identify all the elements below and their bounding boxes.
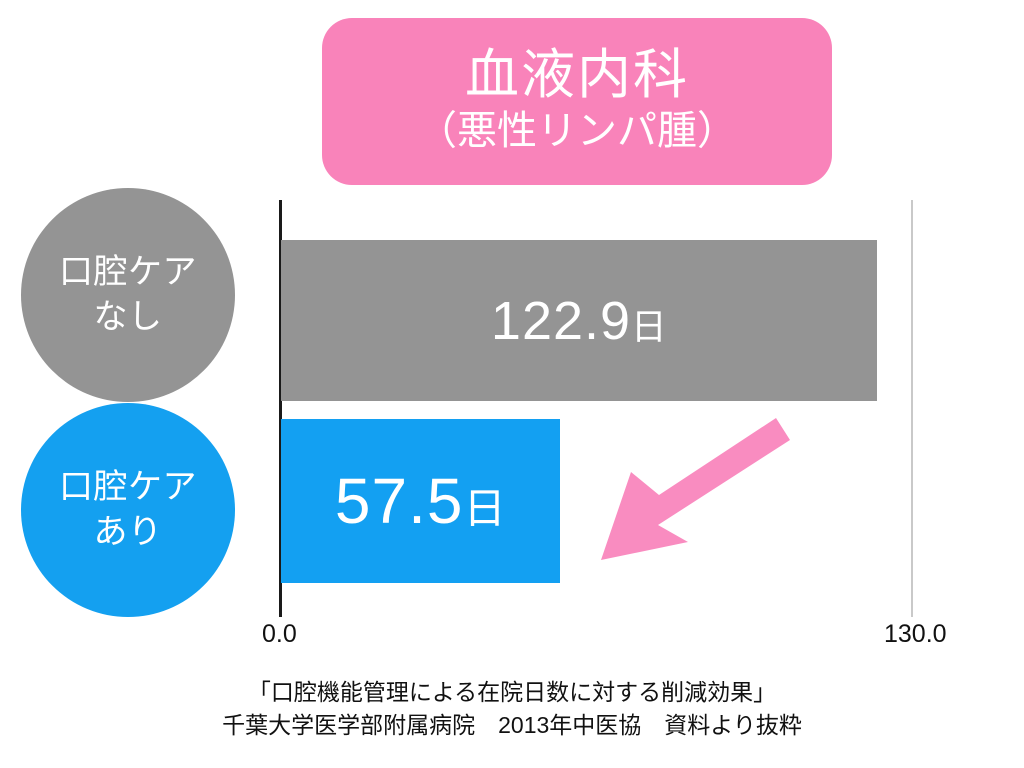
- category-badge-no-care-line1: 口腔ケア: [59, 250, 197, 295]
- bar-with-care: 57.5日: [281, 419, 560, 583]
- bar-chart-plot-area: 122.9日 57.5日: [279, 200, 919, 620]
- gridline-max: [911, 200, 913, 617]
- bar-value-with-care-unit: 日: [463, 485, 505, 532]
- category-badge-with-care-line1: 口腔ケア: [59, 465, 197, 510]
- footnote-line-2: 千葉大学医学部附属病院 2013年中医協 資料より抜粋: [0, 709, 1024, 742]
- bar-value-no-care-number: 122.9: [491, 291, 631, 351]
- slide-canvas: 血液内科 （悪性リンパ腫） 口腔ケア なし 口腔ケア あり 122.9日 57.…: [0, 0, 1024, 768]
- category-badge-with-care-line2: あり: [94, 510, 163, 555]
- bar-value-no-care-unit: 日: [631, 307, 667, 347]
- bar-no-care: 122.9日: [281, 240, 877, 401]
- footnote-line-1: 「口腔機能管理による在院日数に対する削減効果」: [0, 676, 1024, 709]
- bar-value-with-care-number: 57.5: [335, 465, 464, 537]
- bar-value-no-care: 122.9日: [491, 290, 667, 352]
- category-badge-with-care: 口腔ケア あり: [21, 403, 235, 617]
- category-badge-no-care-line2: なし: [94, 295, 163, 340]
- axis-tick-min: 0.0: [262, 620, 297, 649]
- title-sub-text: （悪性リンパ腫）: [417, 108, 737, 154]
- category-badge-no-care: 口腔ケア なし: [21, 188, 235, 402]
- title-banner: 血液内科 （悪性リンパ腫）: [322, 18, 832, 185]
- footnote: 「口腔機能管理による在院日数に対する削減効果」 千葉大学医学部附属病院 2013…: [0, 676, 1024, 743]
- axis-tick-max: 130.0: [884, 620, 947, 649]
- title-main-text: 血液内科: [465, 45, 689, 105]
- bar-value-with-care: 57.5日: [335, 464, 506, 538]
